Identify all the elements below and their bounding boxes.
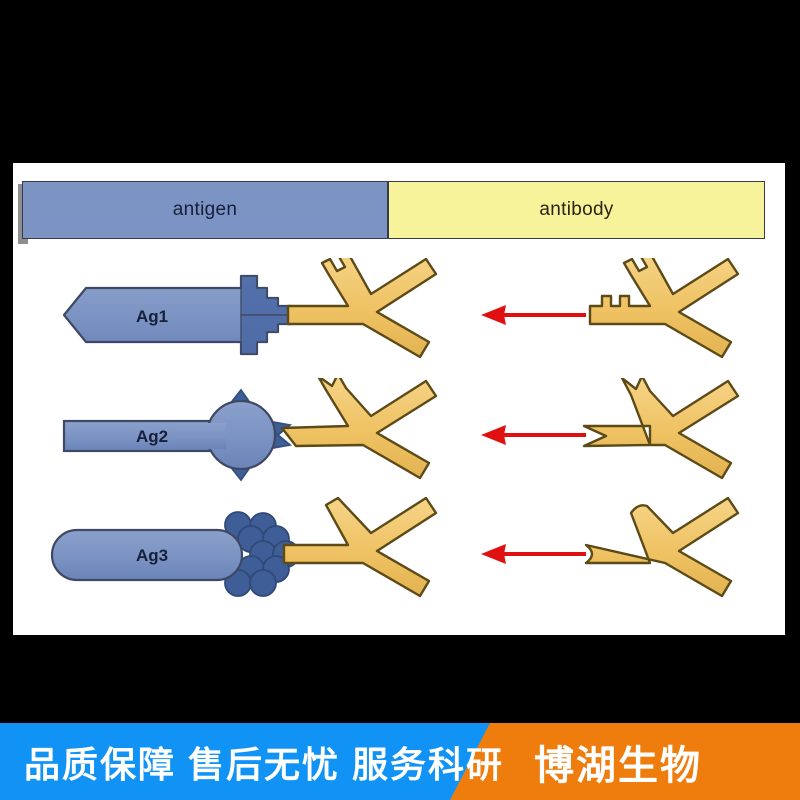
diagram-row-ag3: Ag3 — [26, 497, 798, 615]
arrow-left-2 — [481, 425, 586, 445]
legend-antibody-label: antibody — [539, 199, 613, 221]
antigen-ag2: Ag2 — [64, 390, 290, 480]
antibody-bound-3 — [284, 498, 436, 596]
antibody-free-1 — [590, 258, 738, 357]
banner-brand: 博湖生物 — [534, 723, 702, 800]
arrow-left-3 — [481, 544, 586, 564]
legend-antigen-label: antigen — [173, 199, 237, 221]
banner-slogan: 品质保障 售后无忧 服务科研 — [24, 723, 504, 800]
diagram-row-ag2: Ag2 — [26, 378, 798, 496]
arrow-left-1 — [481, 305, 586, 325]
bottom-banner: 品质保障 售后无忧 服务科研 博湖生物 — [0, 723, 800, 800]
row-1-graphic: Ag1 — [26, 258, 798, 376]
antibody-free-3 — [586, 498, 738, 596]
screenshot-root: antigen antibody — [0, 0, 800, 800]
row-2-graphic: Ag2 — [26, 378, 798, 496]
antigen-ag3-label: Ag3 — [136, 546, 168, 565]
antigen-ag2-label: Ag2 — [136, 427, 168, 446]
antibody-bound-1 — [288, 258, 436, 357]
antigen-ag1-label: Ag1 — [136, 307, 168, 326]
legend-antibody-bar: antibody — [388, 181, 765, 239]
antibody-bound-2 — [282, 378, 436, 478]
antigen-ag1: Ag1 — [64, 276, 291, 354]
diagram-row-ag1: Ag1 — [26, 258, 798, 376]
diagram-panel: antigen antibody — [13, 163, 785, 635]
legend-antigen-bar: antigen — [22, 181, 388, 239]
row-3-graphic: Ag3 — [26, 497, 798, 615]
antibody-free-2 — [584, 378, 738, 478]
antigen-ag3: Ag3 — [52, 512, 299, 596]
